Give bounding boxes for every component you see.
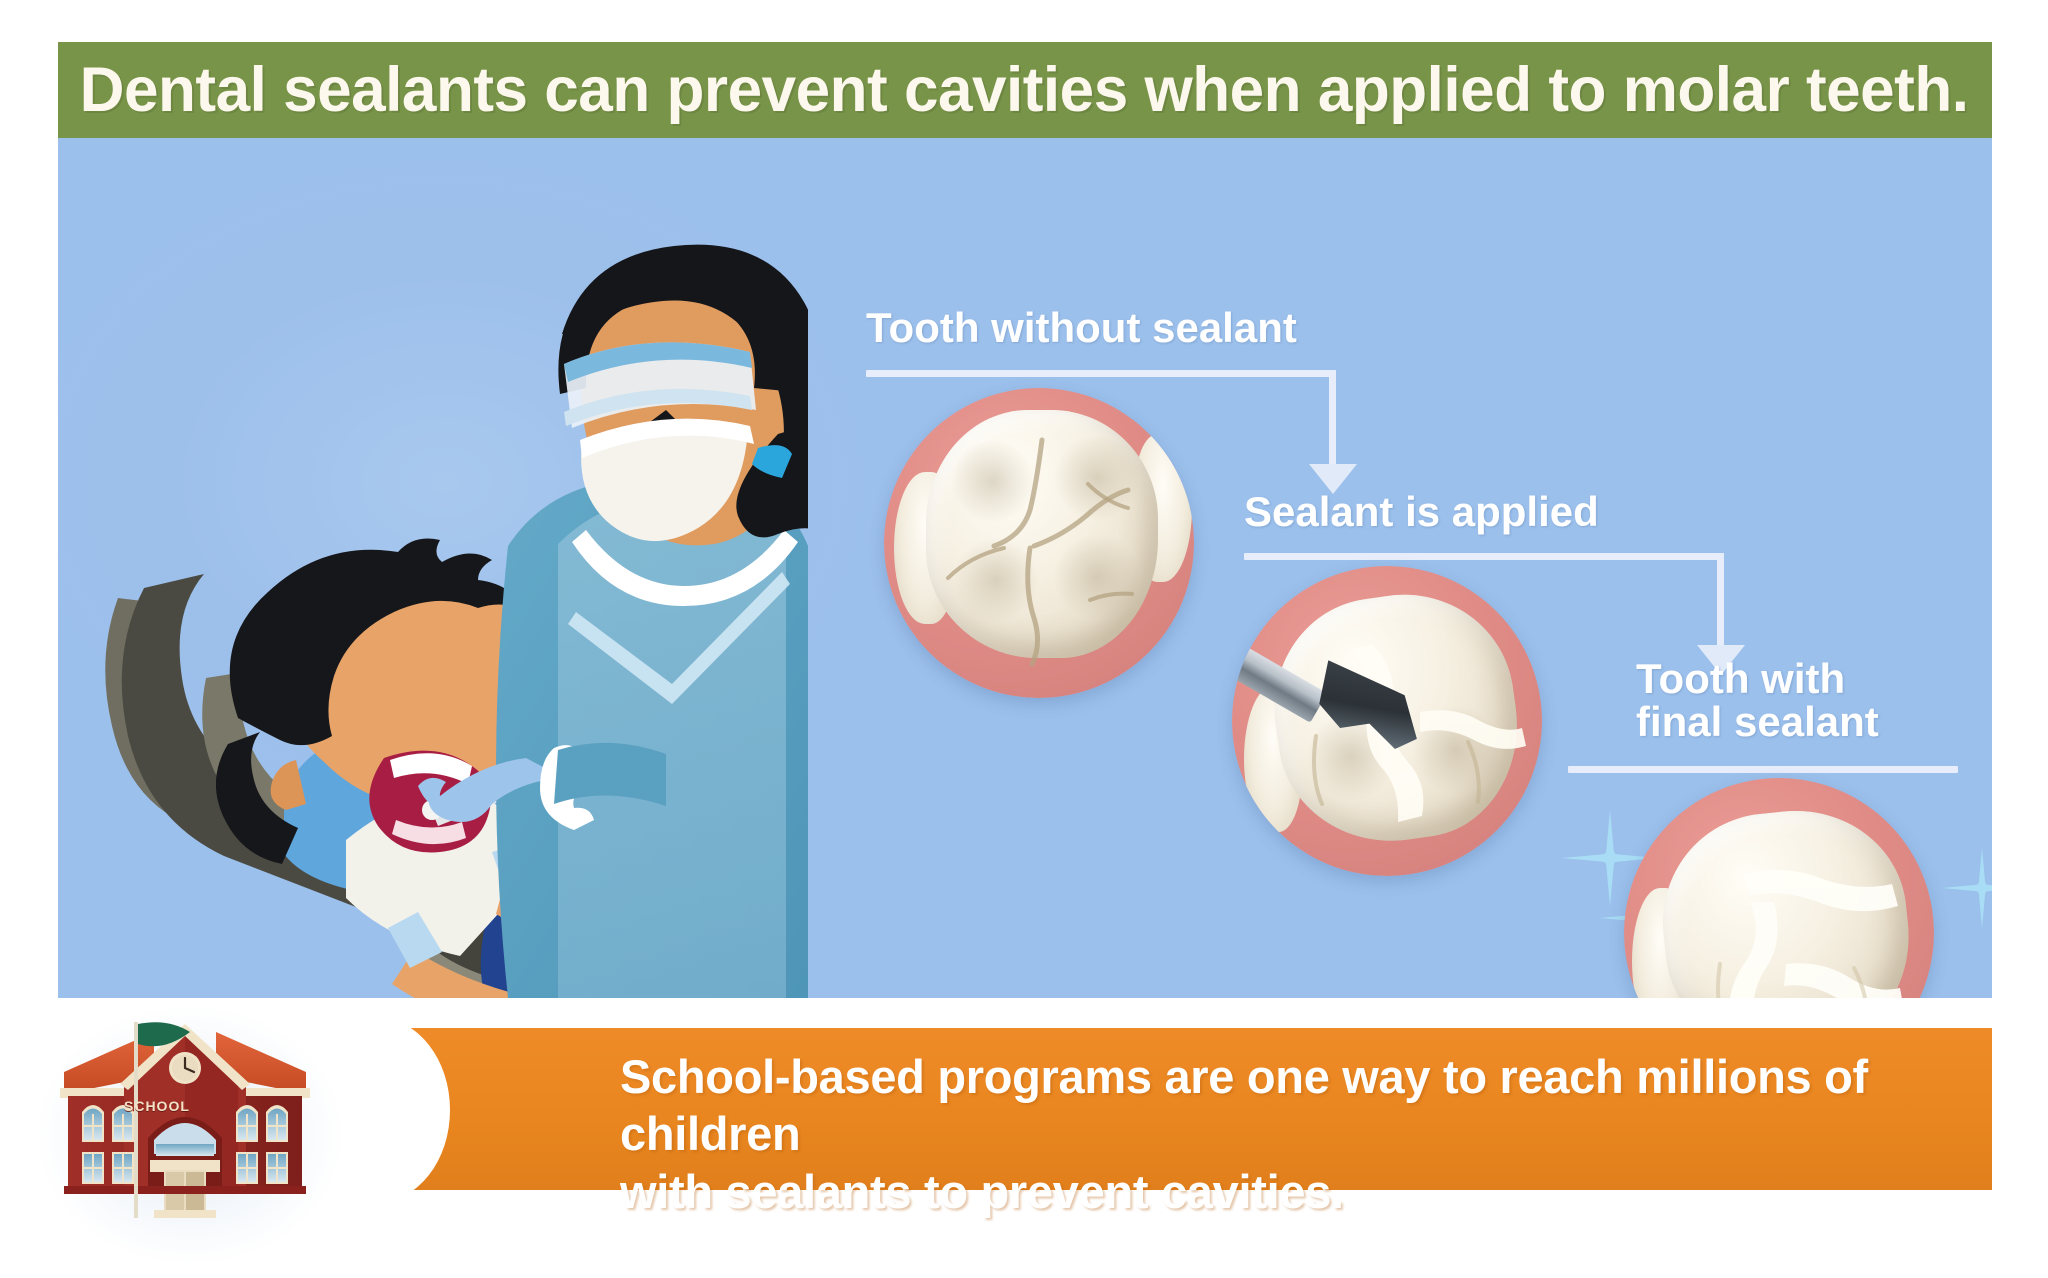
- callout-sealant-is-applied: Sealant is applied: [1244, 490, 1599, 534]
- main-illustration-panel: Tooth without sealant Sealant is applied…: [58, 138, 1992, 998]
- infographic-poster: Dental sealants can prevent cavities whe…: [0, 0, 2048, 1278]
- dentist-and-child-illustration: [88, 158, 808, 998]
- page-title: Dental sealants can prevent cavities whe…: [58, 54, 1969, 126]
- sparkle-icon: [1942, 848, 1992, 928]
- callout-label-tooth-without-sealant: Tooth without sealant: [866, 306, 1297, 350]
- tooth-final-sealant-image: [1624, 778, 1934, 998]
- callout-tooth-without-sealant: Tooth without sealant: [866, 306, 1297, 350]
- callout-connector-line: [866, 370, 1336, 377]
- school-svg: [50, 1020, 320, 1245]
- school-building-icon: SCHOOL: [50, 1020, 320, 1245]
- header-banner: Dental sealants can prevent cavities whe…: [58, 42, 1992, 138]
- sealant-coating: [1624, 778, 1934, 998]
- fissure-grooves: [884, 388, 1194, 698]
- footer-message: School-based programs are one way to rea…: [620, 1048, 1950, 1220]
- tooth-sealant-applied-image: [1232, 566, 1542, 876]
- tooth-without-sealant-image: [884, 388, 1194, 698]
- callout-connector-line: [1244, 553, 1724, 560]
- callout-connector-vertical: [1717, 553, 1724, 649]
- school-sign-label: SCHOOL: [124, 1098, 190, 1114]
- illustration-svg: [88, 158, 808, 998]
- callout-label-sealant-is-applied: Sealant is applied: [1244, 490, 1599, 534]
- tooth-final-sealant-group: [1544, 698, 1992, 998]
- callout-connector-vertical: [1329, 370, 1336, 468]
